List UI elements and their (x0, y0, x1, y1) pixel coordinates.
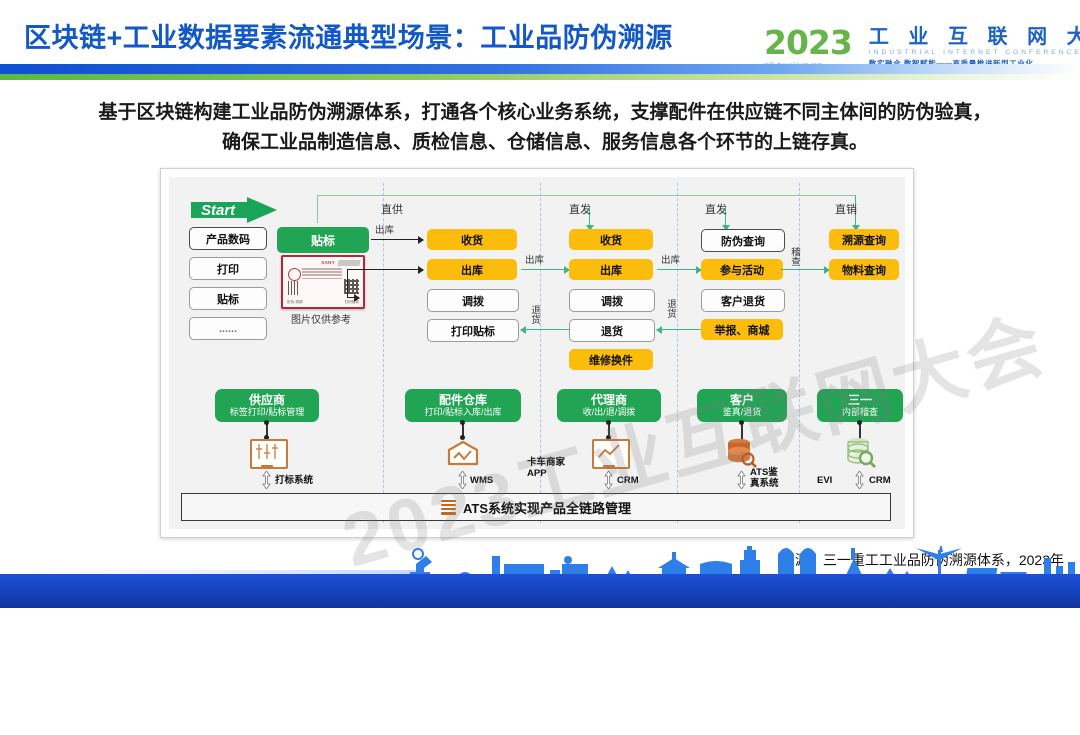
partner-supplier-title: 供应商 (249, 393, 285, 407)
agent-sync-arrow-icon (604, 471, 613, 489)
ats-summary-text: ATS系统实现产品全链路管理 (463, 498, 631, 517)
customer-sync-arrow-icon (737, 471, 746, 489)
label-foot-left: 防伪·溯源 (287, 300, 303, 305)
supplier-system-label: 打标系统 (275, 476, 313, 486)
page-title: 区块链+工业数据要素流通典型场景：工业品防伪溯源 (24, 16, 673, 55)
arrow-agent-to-customer (657, 269, 701, 270)
sany-system-label: CRM (869, 476, 891, 486)
footer-skyline-decoration (0, 546, 1080, 608)
database-search-orange-icon (722, 437, 760, 469)
arrow-agent-to-wh-return (521, 329, 569, 330)
partner-warehouse[interactable]: 配件仓库 打印/贴标入库/出库 (405, 389, 521, 422)
node-cu-activity[interactable]: 参与活动 (701, 259, 783, 280)
node-cu-report-mall[interactable]: 举报、商城 (701, 319, 783, 340)
node-tiebiao[interactable]: 贴标 (277, 227, 369, 253)
rail-drop-0 (317, 195, 318, 223)
lane-divider-3 (677, 183, 678, 523)
node-ag-chuku[interactable]: 出库 (569, 259, 653, 280)
supplier-sync-arrow-icon (262, 471, 271, 489)
logo-english-name: INDUSTRIAL INTERNET CONFERENCE (869, 48, 1080, 58)
node-sy-material-query[interactable]: 物料查询 (829, 259, 899, 280)
warehouse-dot-top (460, 420, 465, 425)
node-wh-print-label[interactable]: 打印贴标 (427, 319, 519, 342)
arrow-wh-to-agent (521, 269, 569, 270)
list-icon (441, 500, 456, 515)
warehouse-system-label: WMS (470, 476, 493, 486)
supplier-monitor-stand (261, 465, 273, 468)
step-print[interactable]: 打印 (189, 257, 267, 280)
edge-label-chuku-1: 出库 (375, 225, 394, 236)
lane-label-0: 直供 (381, 201, 403, 217)
step-product-code[interactable]: 产品数码 (189, 227, 267, 250)
sliders-glyph (252, 441, 282, 463)
header-blue-rule (0, 64, 1080, 74)
header-green-rule (0, 74, 1080, 80)
logo-year-block: 2023 中国·苏州 8月14日-18日 (764, 26, 860, 69)
node-wh-chuku[interactable]: 出库 (427, 259, 517, 280)
arrow-customer-to-agent-return (657, 329, 701, 330)
step-apply-label[interactable]: 贴标 (189, 287, 267, 310)
label-brand: SANY (321, 260, 335, 265)
sample-label-photo: SANY 防伪·溯源 扫码验真 (281, 255, 365, 309)
agent-dot-top (606, 420, 611, 425)
edge-label-tuihuo-2: 退货 (665, 299, 676, 318)
label-text-lines (302, 268, 342, 281)
start-label: Start (201, 199, 261, 221)
agent-monitor-stand (603, 465, 615, 468)
lane-divider-4 (799, 183, 800, 523)
label-seal-icon (288, 268, 301, 281)
lane-label-2: 直发 (705, 201, 727, 217)
logo-chinese-name: 工 业 互 联 网 大 会 (869, 26, 1080, 48)
elbow-col1 (347, 269, 348, 297)
node-ag-diaobo[interactable]: 调拨 (569, 289, 655, 312)
logo-year: 2023 (764, 26, 852, 60)
arrow-to-chuku-col1 (347, 269, 423, 270)
partner-sany[interactable]: 三一 内部稽查 (817, 389, 903, 422)
elbow-col1-foot (347, 297, 359, 298)
edge-label-chuku-3: 出库 (661, 255, 680, 266)
label-footer: 防伪·溯源 扫码验真 (287, 300, 359, 305)
partner-supplier-sub: 标签打印/贴标管理 (230, 407, 305, 418)
warehouse-icon (446, 439, 480, 467)
partner-warehouse-sub: 打印/贴标入库/出库 (424, 407, 501, 418)
chart-glyph (594, 441, 624, 463)
label-tag-stripe (337, 260, 360, 266)
edge-label-chuku-2: 出库 (525, 255, 544, 266)
node-ag-repair[interactable]: 维修换件 (569, 349, 653, 370)
node-wh-diaobo[interactable]: 调拨 (427, 289, 519, 312)
lane-label-3: 直销 (835, 201, 857, 217)
label-photo-header: SANY (286, 259, 360, 266)
supplier-dot-top (264, 420, 269, 425)
node-ag-shouhuo[interactable]: 收货 (569, 229, 653, 250)
customer-system-label: ATS鉴真系统 (750, 467, 784, 489)
diagram-frame: 直供 直发 直发 直销 Start 产品数码 打印 贴标 ...... 贴标 S… (160, 168, 914, 538)
partner-agent-sub: 收/出/退/调拨 (583, 407, 636, 418)
partner-warehouse-title: 配件仓库 (439, 393, 487, 407)
node-cu-return[interactable]: 客户退货 (701, 289, 785, 312)
step-more[interactable]: ...... (189, 317, 267, 340)
arrow-tiebiao-to-shouhuo (371, 239, 423, 240)
sany-extra-label: EVI (817, 476, 832, 486)
partner-customer-sub: 鉴真/退货 (723, 407, 762, 418)
partner-agent[interactable]: 代理商 收/出/退/调拨 (557, 389, 661, 422)
partner-customer[interactable]: 客户 鉴真/退货 (697, 389, 787, 422)
customer-dot-top (739, 420, 744, 425)
label-barcode-icon (288, 281, 300, 295)
node-ag-tuihuo[interactable]: 退货 (569, 319, 655, 342)
node-sy-trace-query[interactable]: 溯源查询 (829, 229, 899, 250)
agent-system-label: CRM (617, 476, 639, 486)
sany-dot-top (857, 420, 862, 425)
diagram-canvas: 直供 直发 直发 直销 Start 产品数码 打印 贴标 ...... 贴标 S… (169, 177, 905, 529)
warehouse-sync-arrow-icon (458, 471, 467, 489)
logo-text-block: 工 业 互 联 网 大 会 INDUSTRIAL INTERNET CONFER… (869, 26, 1080, 69)
edge-label-tuihuo-1: 退货 (529, 305, 540, 324)
ats-summary-bar: ATS系统实现产品全链路管理 (181, 493, 891, 521)
lane-label-1: 直发 (569, 201, 591, 217)
database-search-green-icon (841, 437, 879, 469)
partner-customer-title: 客户 (730, 393, 754, 407)
sany-sync-arrow-icon (855, 471, 864, 489)
page-header: 区块链+工业数据要素流通典型场景：工业品防伪溯源 2023 中国·苏州 8月14… (0, 0, 1080, 88)
lead-paragraph: 基于区块链构建工业品防伪溯源体系，打通各个核心业务系统，支撑配件在供应链不同主体… (95, 98, 995, 158)
partner-supplier[interactable]: 供应商 标签打印/贴标管理 (215, 389, 319, 422)
node-cu-antifake-query[interactable]: 防伪查询 (701, 229, 785, 252)
edge-label-chacha: 稽查 (789, 247, 800, 266)
skyline-blue-band (0, 574, 1080, 608)
partner-agent-title: 代理商 (591, 393, 627, 407)
partner-sany-sub: 内部稽查 (842, 407, 878, 418)
label-photo-caption: 图片仅供参考 (273, 311, 369, 326)
partner-sany-title: 三一 (848, 393, 872, 407)
agent-extra-label: 卡车商家APP (527, 457, 567, 479)
arrow-customer-to-sany (781, 269, 829, 270)
node-wh-shouhuo[interactable]: 收货 (427, 229, 517, 250)
top-connector-rail (317, 195, 855, 196)
